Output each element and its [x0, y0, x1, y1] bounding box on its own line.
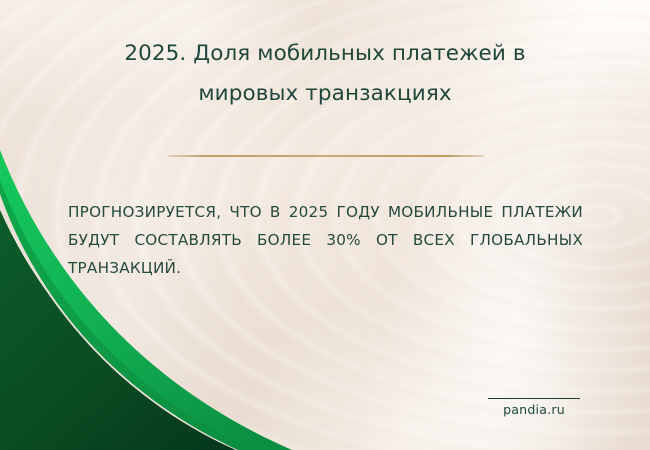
gold-divider	[168, 155, 484, 157]
slide-canvas: 2025. Доля мобильных платежей в мировых …	[0, 0, 650, 450]
footer-site-label[interactable]: pandia.ru	[486, 402, 582, 417]
page-title: 2025. Доля мобильных платежей в мировых …	[70, 34, 580, 114]
footer-watermark: pandia.ru	[486, 398, 582, 417]
footer-rule	[488, 398, 580, 399]
body-paragraph: ПРОГНОЗИРУЕТСЯ, ЧТО В 2025 ГОДУ МОБИЛЬНЫ…	[68, 198, 583, 282]
